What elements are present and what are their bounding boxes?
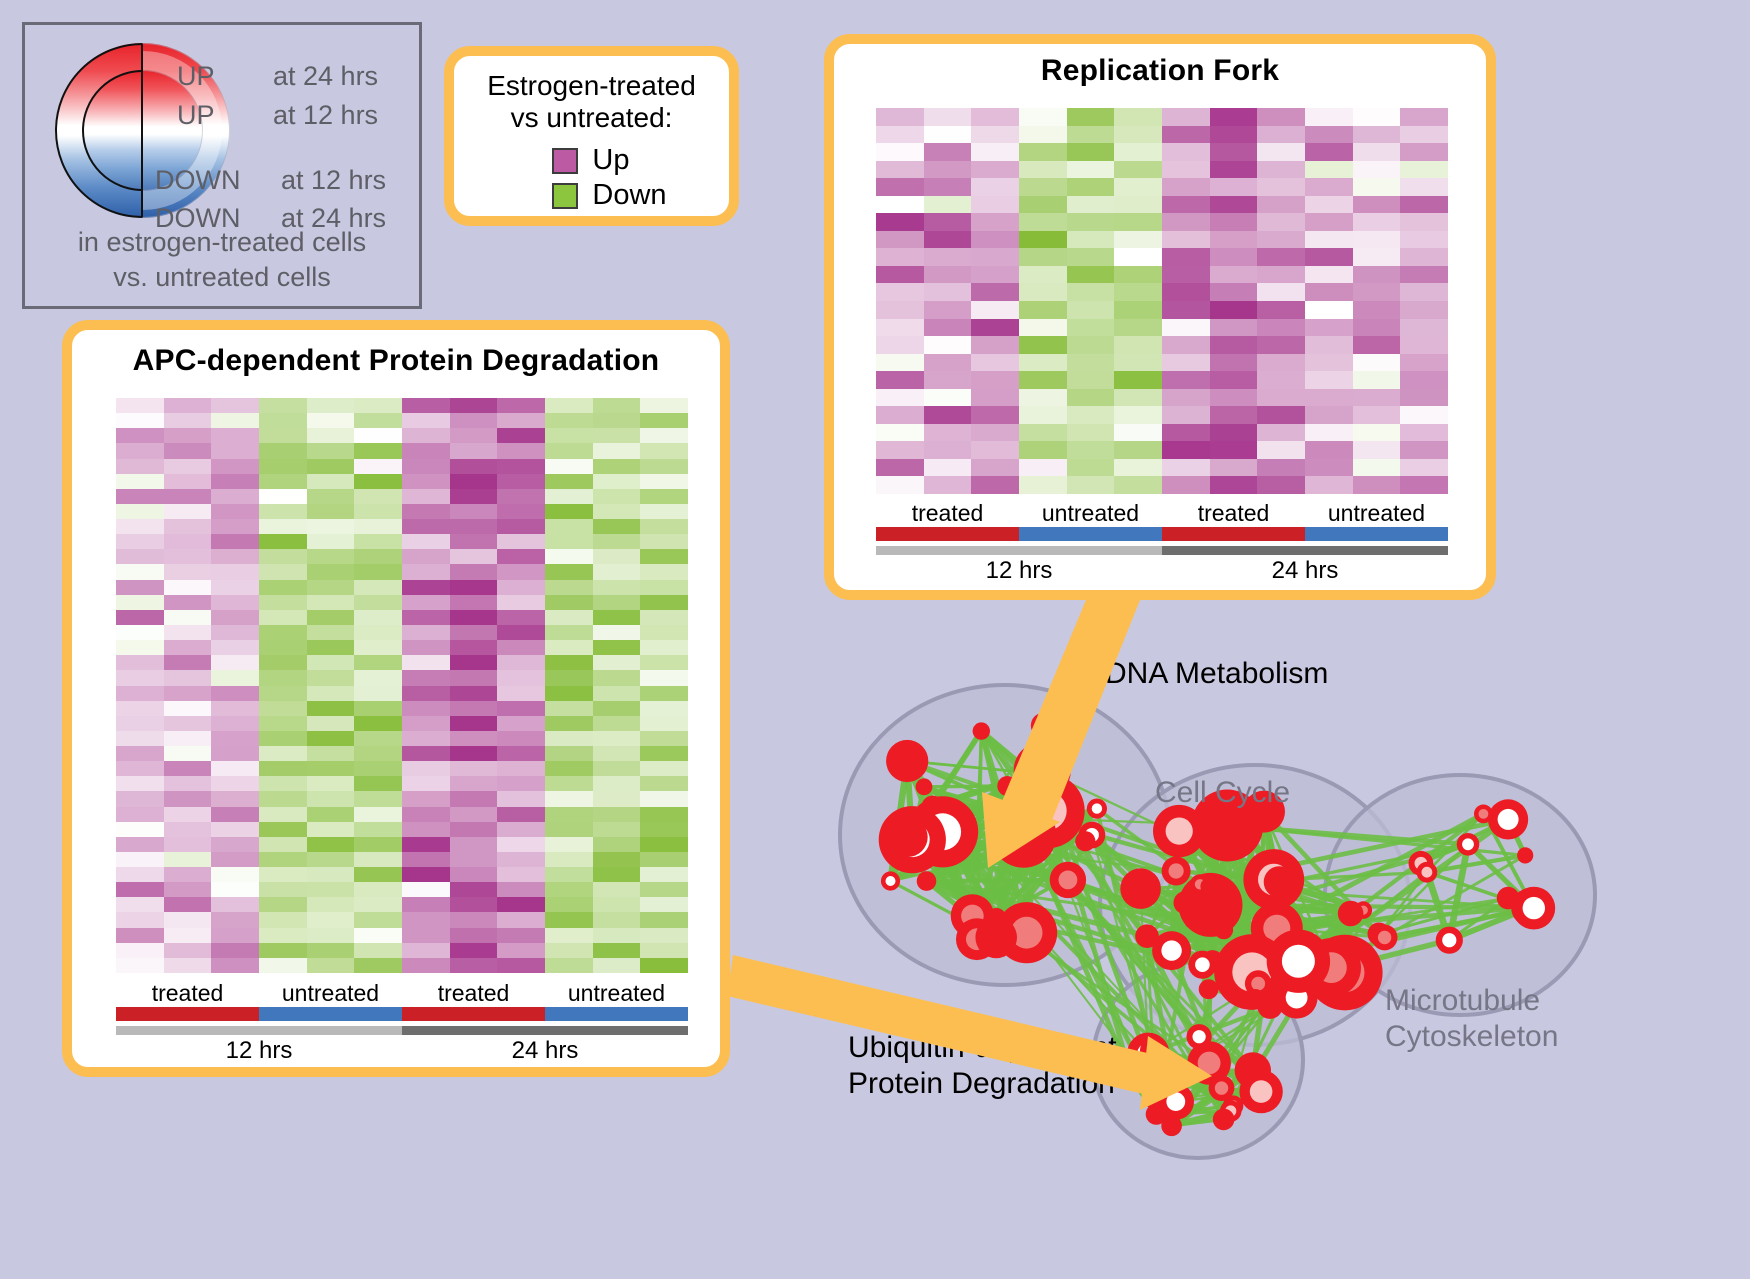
heatmap-cell bbox=[1210, 266, 1258, 284]
heatmap-cell bbox=[259, 943, 307, 958]
timepoint-labels-row: 12 hrs24 hrs bbox=[876, 557, 1448, 585]
heatmap-cell bbox=[402, 580, 450, 595]
heatmap-cell bbox=[640, 595, 688, 610]
heatmap-cell bbox=[116, 852, 164, 867]
heatmap-cell bbox=[402, 791, 450, 806]
heatmap-cell bbox=[354, 912, 402, 927]
network-node[interactable] bbox=[1162, 857, 1191, 886]
heatmap-cell bbox=[450, 807, 498, 822]
heatmap-cell bbox=[354, 564, 402, 579]
heatmap-cell bbox=[164, 852, 212, 867]
heatmap-cell bbox=[450, 564, 498, 579]
heatmap-cell bbox=[211, 489, 259, 504]
heatmap-cell bbox=[1257, 424, 1305, 442]
treatment-bar-segment-3 bbox=[1305, 527, 1448, 541]
heatmap-cell bbox=[164, 610, 212, 625]
heatmap-cell bbox=[593, 867, 641, 882]
heatmap-cell bbox=[164, 489, 212, 504]
heatmap-cell bbox=[116, 882, 164, 897]
heatmap-cell bbox=[497, 474, 545, 489]
heatmap-cell bbox=[1114, 371, 1162, 389]
heatmap-cell bbox=[402, 686, 450, 701]
heatmap-cell bbox=[640, 822, 688, 837]
heatmap-cell bbox=[497, 776, 545, 791]
heatmap-cell bbox=[354, 852, 402, 867]
heatmap-cell bbox=[354, 580, 402, 595]
heatmap-cell bbox=[211, 882, 259, 897]
heatmap-cell bbox=[545, 837, 593, 852]
heatmap-cell bbox=[402, 731, 450, 746]
heatmap-cell bbox=[640, 837, 688, 852]
heatmap-cell bbox=[402, 746, 450, 761]
network-node[interactable] bbox=[888, 817, 928, 857]
heatmap-cell bbox=[116, 564, 164, 579]
heatmap-cell bbox=[640, 670, 688, 685]
heatmap-cell bbox=[876, 126, 924, 144]
network-node-core bbox=[1169, 863, 1184, 878]
heatmap-cell bbox=[1400, 371, 1448, 389]
heatmap-cell bbox=[164, 701, 212, 716]
heatmap-cell bbox=[450, 610, 498, 625]
heatmap-cell bbox=[640, 701, 688, 716]
cluster-label-cell-cycle: Cell Cycle bbox=[1155, 775, 1290, 811]
heatmap-cell bbox=[1353, 301, 1401, 319]
heatmap-cell bbox=[1019, 178, 1067, 196]
heatmap-cell bbox=[1353, 231, 1401, 249]
heatmap-cell bbox=[593, 776, 641, 791]
heatmap-cell bbox=[116, 549, 164, 564]
heatmap-cell bbox=[450, 489, 498, 504]
network-node[interactable] bbox=[1135, 924, 1159, 948]
heatmap-cell bbox=[307, 912, 355, 927]
heatmap-cell bbox=[640, 534, 688, 549]
heatmap-cell bbox=[1067, 266, 1115, 284]
heatmap-cell bbox=[1162, 424, 1210, 442]
heatmap-cell bbox=[307, 882, 355, 897]
heatmap-cell bbox=[116, 686, 164, 701]
network-node[interactable] bbox=[1338, 901, 1364, 927]
network-node[interactable] bbox=[917, 871, 937, 891]
network-node[interactable] bbox=[886, 740, 928, 782]
heatmap-cell bbox=[1067, 459, 1115, 477]
heatmap-cell bbox=[450, 428, 498, 443]
network-node[interactable] bbox=[1249, 989, 1263, 1003]
heatmap-cell bbox=[497, 701, 545, 716]
group-labels-row: treateduntreatedtreateduntreated bbox=[116, 980, 688, 1007]
network-node[interactable] bbox=[1075, 831, 1095, 851]
heatmap-cell bbox=[402, 474, 450, 489]
heatmap-cell bbox=[497, 807, 545, 822]
heatmap-cell bbox=[1257, 459, 1305, 477]
heatmap-cell bbox=[1162, 196, 1210, 214]
heatmap-cell bbox=[116, 761, 164, 776]
heatmap-cell bbox=[1400, 389, 1448, 407]
heatmap-cell bbox=[1162, 459, 1210, 477]
network-node[interactable] bbox=[1209, 1075, 1235, 1101]
heatmap-cell bbox=[259, 595, 307, 610]
network-node[interactable] bbox=[1187, 1024, 1212, 1049]
network-node[interactable] bbox=[1239, 1070, 1282, 1113]
heatmap-cell bbox=[593, 897, 641, 912]
network-node[interactable] bbox=[1120, 868, 1161, 909]
heatmap-cell bbox=[876, 196, 924, 214]
heatmap-cell bbox=[593, 882, 641, 897]
network-node[interactable] bbox=[1264, 866, 1296, 898]
timepoint-label-0: 12 hrs bbox=[876, 557, 1162, 585]
heatmap-cell bbox=[924, 178, 972, 196]
network-node[interactable] bbox=[1517, 847, 1533, 863]
heatmap-cell bbox=[1353, 476, 1401, 494]
heatmap-cell bbox=[640, 474, 688, 489]
heatmap-cell bbox=[924, 389, 972, 407]
heatmap-cell bbox=[971, 301, 1019, 319]
heatmap-cell bbox=[164, 731, 212, 746]
heatmap-cell bbox=[450, 912, 498, 927]
heatmap-cell bbox=[971, 213, 1019, 231]
heatmap-cell bbox=[924, 108, 972, 126]
heatmap-cell bbox=[259, 564, 307, 579]
network-node[interactable] bbox=[1199, 979, 1219, 999]
heatmap-cell bbox=[307, 686, 355, 701]
heatmap-cell bbox=[211, 640, 259, 655]
heatmap-cell bbox=[1305, 248, 1353, 266]
heatmap-cell bbox=[1400, 283, 1448, 301]
heatmap-cell bbox=[307, 398, 355, 413]
network-node[interactable] bbox=[1153, 805, 1205, 857]
network-node[interactable] bbox=[1188, 951, 1216, 979]
heatmap-cell bbox=[259, 807, 307, 822]
heatmap-cell bbox=[211, 443, 259, 458]
up-down-legend-panel: Estrogen-treated vs untreated: Up Down bbox=[444, 46, 739, 226]
heatmap-cell bbox=[164, 958, 212, 973]
heatmap-cell bbox=[1114, 406, 1162, 424]
heatmap-cell bbox=[1067, 126, 1115, 144]
heatmap-cell bbox=[497, 564, 545, 579]
heatmap-cell bbox=[545, 701, 593, 716]
heatmap-cell bbox=[497, 928, 545, 943]
heatmap-cell bbox=[450, 761, 498, 776]
heatmap-cell bbox=[1400, 248, 1448, 266]
heatmap-cell bbox=[924, 283, 972, 301]
heatmap-cell bbox=[164, 943, 212, 958]
network-node[interactable] bbox=[1213, 1109, 1235, 1131]
heatmap-cell bbox=[545, 504, 593, 519]
heatmap-cell bbox=[211, 474, 259, 489]
treatment-color-bar bbox=[116, 1007, 688, 1021]
heatmap-cell bbox=[1353, 213, 1401, 231]
apc-axis: treateduntreatedtreateduntreated12 hrs24… bbox=[116, 980, 688, 1065]
heatmap-cell bbox=[450, 413, 498, 428]
heatmap-cell bbox=[1400, 406, 1448, 424]
heatmap-cell bbox=[545, 731, 593, 746]
heatmap-cell bbox=[450, 443, 498, 458]
heatmap-cell bbox=[259, 549, 307, 564]
heatmap-cell bbox=[640, 943, 688, 958]
heatmap-cell bbox=[1162, 389, 1210, 407]
heatmap-cell bbox=[545, 807, 593, 822]
heatmap-cell bbox=[876, 266, 924, 284]
heatmap-cell bbox=[164, 761, 212, 776]
heatmap-cell bbox=[1257, 336, 1305, 354]
heatmap-cell bbox=[164, 428, 212, 443]
network-node[interactable] bbox=[973, 722, 990, 739]
heatmap-cell bbox=[164, 912, 212, 927]
heatmap-cell bbox=[307, 655, 355, 670]
heatmap-cell bbox=[1257, 266, 1305, 284]
heatmap-cell bbox=[354, 867, 402, 882]
heatmap-cell bbox=[211, 731, 259, 746]
pathway-network-diagram: DNA Metabolism Cell Cycle Microtubule Cy… bbox=[800, 620, 1750, 1279]
network-node-core bbox=[1282, 945, 1315, 978]
heatmap-cell bbox=[971, 126, 1019, 144]
heatmap-cell bbox=[1210, 213, 1258, 231]
heatmap-cell bbox=[497, 610, 545, 625]
heatmap-cell bbox=[1305, 354, 1353, 372]
heatmap-cell bbox=[259, 746, 307, 761]
heatmap-cell bbox=[1019, 441, 1067, 459]
legend-label-up: Up bbox=[592, 144, 629, 177]
heatmap-cell bbox=[971, 266, 1019, 284]
heatmap-cell bbox=[450, 580, 498, 595]
heatmap-cell bbox=[1114, 441, 1162, 459]
heatmap-cell bbox=[259, 928, 307, 943]
legend-item-up: Up bbox=[552, 144, 666, 177]
heatmap-cell bbox=[164, 746, 212, 761]
heatmap-cell bbox=[971, 406, 1019, 424]
heatmap-cell bbox=[1257, 196, 1305, 214]
heatmap-cell bbox=[450, 867, 498, 882]
heatmap-cell bbox=[211, 428, 259, 443]
heatmap-cell bbox=[1400, 424, 1448, 442]
network-node[interactable] bbox=[1158, 1083, 1194, 1119]
timepoint-color-bar bbox=[116, 1026, 688, 1035]
network-node[interactable] bbox=[991, 802, 1056, 867]
heatmap-cell bbox=[924, 336, 972, 354]
heatmap-cell bbox=[164, 928, 212, 943]
network-node-core bbox=[1195, 957, 1210, 972]
heatmap-cell bbox=[211, 958, 259, 973]
heatmap-cell bbox=[497, 549, 545, 564]
network-node[interactable] bbox=[1372, 925, 1398, 951]
heatmap-cell bbox=[354, 822, 402, 837]
heatmap-cell bbox=[259, 655, 307, 670]
heatmap-cell bbox=[1067, 354, 1115, 372]
heatmap-cell bbox=[164, 398, 212, 413]
heatmap-cell bbox=[545, 640, 593, 655]
heatmap-cell bbox=[640, 625, 688, 640]
network-node-core bbox=[1193, 1030, 1206, 1043]
heatmap-cell bbox=[259, 504, 307, 519]
heatmap-cell bbox=[402, 640, 450, 655]
heatmap-cell bbox=[876, 143, 924, 161]
legend-item-down: Down bbox=[552, 179, 666, 212]
network-node[interactable] bbox=[1140, 1038, 1165, 1063]
heatmap-cell bbox=[924, 301, 972, 319]
heatmap-cell bbox=[876, 424, 924, 442]
heatmap-cell bbox=[402, 701, 450, 716]
heatmap-cell bbox=[1257, 126, 1305, 144]
heatmap-cell bbox=[1400, 231, 1448, 249]
heatmap-cell bbox=[545, 549, 593, 564]
heatmap-cell bbox=[1353, 371, 1401, 389]
heatmap-cell bbox=[307, 746, 355, 761]
heatmap-cell bbox=[1257, 406, 1305, 424]
heatmap-cell bbox=[971, 143, 1019, 161]
heatmap-cell bbox=[924, 143, 972, 161]
cluster-label-microtubule-cytoskeleton: Microtubule Cytoskeleton bbox=[1385, 983, 1558, 1055]
heatmap-cell bbox=[354, 534, 402, 549]
network-node-core bbox=[1166, 1092, 1185, 1111]
heatmap-cell bbox=[307, 443, 355, 458]
heatmap-cell bbox=[1114, 424, 1162, 442]
heatmap-cell bbox=[116, 459, 164, 474]
heatmap-cell bbox=[1353, 406, 1401, 424]
legend-title-line2: vs untreated: bbox=[454, 102, 729, 134]
heatmap-cell bbox=[1257, 213, 1305, 231]
heatmap-cell bbox=[497, 867, 545, 882]
heatmap-cell bbox=[1019, 459, 1067, 477]
heatmap-cell bbox=[307, 822, 355, 837]
network-node-core bbox=[1523, 897, 1545, 919]
network-node[interactable] bbox=[1184, 913, 1199, 928]
network-node[interactable] bbox=[1138, 1072, 1162, 1096]
heatmap-cell bbox=[593, 474, 641, 489]
heatmap-cell bbox=[1210, 406, 1258, 424]
heatmap-cell bbox=[307, 504, 355, 519]
timepoint-label-0: 12 hrs bbox=[116, 1037, 402, 1065]
heatmap-cell bbox=[164, 897, 212, 912]
network-node[interactable] bbox=[1488, 799, 1528, 839]
heatmap-cell bbox=[593, 943, 641, 958]
heatmap-cell bbox=[211, 761, 259, 776]
network-node[interactable] bbox=[997, 776, 1017, 796]
heatmap-cell bbox=[450, 731, 498, 746]
replication-fork-title: Replication Fork bbox=[834, 54, 1486, 88]
heatmap-cell bbox=[545, 413, 593, 428]
heatmap-cell bbox=[450, 928, 498, 943]
heatmap-cell bbox=[116, 398, 164, 413]
heatmap-cell bbox=[971, 319, 1019, 337]
heatmap-cell bbox=[259, 912, 307, 927]
heatmap-cell bbox=[211, 519, 259, 534]
heatmap-cell bbox=[116, 822, 164, 837]
heatmap-cell bbox=[545, 398, 593, 413]
network-node[interactable] bbox=[1031, 713, 1057, 739]
heatmap-cell bbox=[545, 761, 593, 776]
heatmap-cell bbox=[450, 686, 498, 701]
colorwheel-key-up-24: UP bbox=[177, 61, 215, 92]
heatmap-cell bbox=[450, 943, 498, 958]
heatmap-cell bbox=[307, 413, 355, 428]
heatmap-cell bbox=[1305, 178, 1353, 196]
heatmap-cell bbox=[307, 958, 355, 973]
network-node[interactable] bbox=[1018, 760, 1044, 786]
heatmap-cell bbox=[593, 837, 641, 852]
heatmap-cell bbox=[1400, 178, 1448, 196]
heatmap-cell bbox=[1305, 336, 1353, 354]
heatmap-cell bbox=[497, 731, 545, 746]
heatmap-cell bbox=[164, 519, 212, 534]
heatmap-cell bbox=[593, 549, 641, 564]
figure-canvas: UP at 24 hrs UP at 12 hrs DOWN at 12 hrs… bbox=[0, 0, 1750, 1279]
network-node[interactable] bbox=[881, 871, 900, 890]
heatmap-cell bbox=[1162, 161, 1210, 179]
network-node-core bbox=[1498, 809, 1519, 830]
heatmap-cell bbox=[450, 716, 498, 731]
heatmap-cell bbox=[545, 428, 593, 443]
heatmap-cell bbox=[1353, 459, 1401, 477]
legend-swatch-down-icon bbox=[552, 183, 578, 209]
heatmap-cell bbox=[259, 443, 307, 458]
heatmap-cell bbox=[116, 958, 164, 973]
network-node[interactable] bbox=[1457, 833, 1480, 856]
heatmap-cell bbox=[971, 231, 1019, 249]
heatmap-cell bbox=[1019, 283, 1067, 301]
heatmap-cell bbox=[259, 428, 307, 443]
heatmap-cell bbox=[164, 867, 212, 882]
network-node[interactable] bbox=[916, 778, 933, 795]
heatmap-cell bbox=[497, 716, 545, 731]
heatmap-cell bbox=[593, 807, 641, 822]
apc-panel: APC-dependent Protein Degradation treate… bbox=[62, 320, 730, 1077]
heatmap-cell bbox=[971, 196, 1019, 214]
heatmap-cell bbox=[1019, 248, 1067, 266]
heatmap-cell bbox=[1019, 143, 1067, 161]
heatmap-cell bbox=[450, 791, 498, 806]
heatmap-cell bbox=[116, 867, 164, 882]
heatmap-cell bbox=[354, 519, 402, 534]
heatmap-cell bbox=[971, 476, 1019, 494]
heatmap-cell bbox=[876, 354, 924, 372]
network-node[interactable] bbox=[1050, 862, 1086, 898]
heatmap-cell bbox=[593, 640, 641, 655]
heatmap-cell bbox=[450, 822, 498, 837]
heatmap-cell bbox=[1019, 354, 1067, 372]
network-node[interactable] bbox=[987, 908, 1007, 928]
heatmap-cell bbox=[354, 897, 402, 912]
network-node[interactable] bbox=[1436, 927, 1463, 954]
heatmap-cell bbox=[1353, 196, 1401, 214]
heatmap-cell bbox=[450, 595, 498, 610]
heatmap-cell bbox=[450, 459, 498, 474]
heatmap-cell bbox=[211, 534, 259, 549]
heatmap-cell bbox=[116, 791, 164, 806]
heatmap-cell bbox=[307, 625, 355, 640]
heatmap-cell bbox=[497, 791, 545, 806]
heatmap-cell bbox=[640, 610, 688, 625]
network-node[interactable] bbox=[1200, 878, 1217, 895]
heatmap-cell bbox=[1305, 108, 1353, 126]
heatmap-cell bbox=[876, 231, 924, 249]
heatmap-cell bbox=[593, 413, 641, 428]
network-node[interactable] bbox=[1087, 799, 1107, 819]
heatmap-cell bbox=[1162, 476, 1210, 494]
heatmap-cell bbox=[259, 519, 307, 534]
heatmap-cell bbox=[307, 701, 355, 716]
heatmap-cell bbox=[1210, 389, 1258, 407]
heatmap-cell bbox=[1019, 196, 1067, 214]
heatmap-cell bbox=[545, 655, 593, 670]
network-node[interactable] bbox=[1267, 930, 1330, 993]
heatmap-cell bbox=[1067, 476, 1115, 494]
heatmap-cell bbox=[164, 882, 212, 897]
network-node[interactable] bbox=[1512, 887, 1555, 930]
heatmap-cell bbox=[1257, 476, 1305, 494]
heatmap-cell bbox=[259, 686, 307, 701]
network-node[interactable] bbox=[1417, 862, 1438, 883]
heatmap-cell bbox=[307, 852, 355, 867]
heatmap-cell bbox=[450, 776, 498, 791]
